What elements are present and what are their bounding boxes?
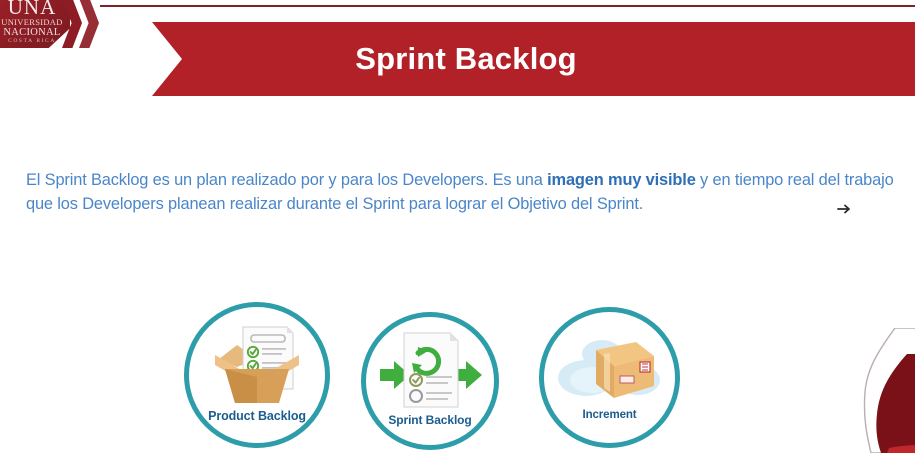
document-with-refresh-arrows-icon (366, 325, 494, 417)
open-box-with-checklist-icon (189, 315, 325, 407)
body-text-emphasis: imagen muy visible (547, 171, 696, 189)
artifact-circle-increment[interactable]: Increment (539, 307, 680, 448)
corner-decoration-swoosh (849, 328, 915, 453)
title-ribbon: Sprint Backlog (152, 22, 915, 96)
page-title: Sprint Backlog (152, 22, 915, 96)
chevron-right-icon (79, 0, 99, 48)
artifact-label-product-backlog: Product Backlog (189, 409, 325, 423)
artifact-circle-sprint-backlog[interactable]: Sprint Backlog (361, 312, 499, 450)
scrum-artifacts-row: Product Backlog (0, 296, 915, 453)
artifact-label-sprint-backlog: Sprint Backlog (366, 413, 494, 427)
una-logo: UNA UNIVERSIDAD NACIONAL COSTA RICA (0, 0, 70, 48)
artifact-label-increment: Increment (544, 409, 675, 421)
logo-line-nacional: NACIONAL (0, 27, 70, 38)
logo-line-una: UNA (0, 0, 70, 18)
logo-line-costa-rica: COSTA RICA (0, 38, 70, 45)
body-text-part-1: El Sprint Backlog es un plan realizado p… (26, 171, 547, 189)
artifact-circle-product-backlog[interactable]: Product Backlog (184, 302, 330, 448)
package-on-cloud-icon (544, 320, 675, 412)
body-paragraph: El Sprint Backlog es un plan realizado p… (26, 168, 904, 216)
mouse-pointer-arrow-icon (836, 200, 854, 218)
top-rule-divider (100, 5, 915, 7)
logo-line-universidad: UNIVERSIDAD (0, 18, 70, 27)
slide-canvas: UNA UNIVERSIDAD NACIONAL COSTA RICA Spri… (0, 0, 915, 453)
